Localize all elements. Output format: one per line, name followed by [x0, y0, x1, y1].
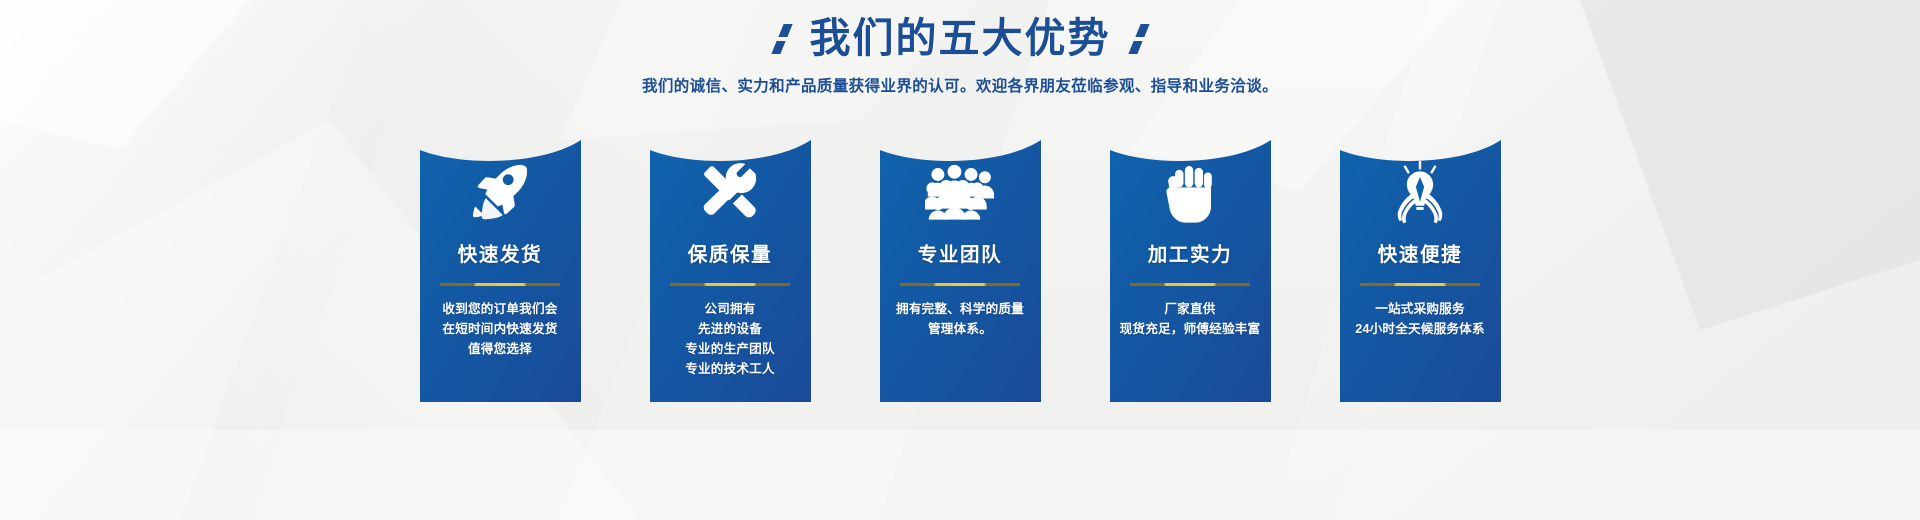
title-row: 我们的五大优势 — [0, 0, 1920, 61]
card-divider — [670, 283, 790, 286]
card-title: 保质保量 — [688, 246, 772, 266]
page-subtitle: 我们的诚信、实力和产品质量获得业界的认可。欢迎各界朋友莅临参观、指导和业务洽谈。 — [0, 74, 1920, 96]
advantage-card-fast-convenient[interactable]: 快速便捷 一站式采购服务 24小时全天候服务体系 — [1340, 140, 1501, 402]
card-title: 专业团队 — [918, 246, 1002, 266]
card-body-line: 先进的设备 — [685, 319, 775, 339]
card-body-line: 管理体系。 — [896, 319, 1024, 339]
card-title: 加工实力 — [1148, 246, 1232, 266]
card-divider — [440, 283, 560, 286]
fist-icon — [1164, 140, 1216, 244]
right-slash-decoration-icon — [1131, 24, 1147, 54]
advantage-card-list: 快速发货 收到您的订单我们会 在短时间内快速发货 值得您选择 — [0, 140, 1920, 402]
card-body: 厂家直供 现货充足，师傅经验丰富 — [1120, 299, 1261, 339]
advantage-card-quality-assurance[interactable]: 保质保量 公司拥有 先进的设备 专业的生产团队 专业的技术工人 — [650, 140, 811, 402]
card-divider — [900, 283, 1020, 286]
card-body-line: 拥有完整、科学的质量 — [896, 299, 1024, 319]
advantage-card-professional-team[interactable]: 专业团队 拥有完整、科学的质量 管理体系。 — [880, 140, 1041, 402]
card-body-line: 厂家直供 — [1120, 299, 1261, 319]
card-body: 一站式采购服务 24小时全天候服务体系 — [1355, 299, 1485, 339]
card-divider — [1130, 283, 1250, 286]
card-body: 公司拥有 先进的设备 专业的生产团队 专业的技术工人 — [685, 299, 775, 379]
card-body: 收到您的订单我们会 在短时间内快速发货 值得您选择 — [442, 299, 557, 359]
banner-header: 我们的五大优势 我们的诚信、实力和产品质量获得业界的认可。欢迎各界朋友莅临参观、… — [0, 0, 1920, 96]
page-title: 我们的五大优势 — [810, 16, 1111, 61]
left-slash-decoration-icon — [774, 24, 790, 54]
card-title: 快速便捷 — [1378, 246, 1462, 266]
card-body: 拥有完整、科学的质量 管理体系。 — [896, 299, 1024, 339]
lightbulb-in-hands-icon — [1389, 140, 1451, 244]
card-body-line: 收到您的订单我们会 — [442, 299, 557, 319]
card-body-line: 在短时间内快速发货 — [442, 319, 557, 339]
card-body-line: 24小时全天候服务体系 — [1355, 319, 1485, 339]
card-body-line: 专业的生产团队 — [685, 339, 775, 359]
advantage-card-processing-strength[interactable]: 加工实力 厂家直供 现货充足，师傅经验丰富 — [1110, 140, 1271, 402]
wrench-screwdriver-icon — [699, 140, 761, 244]
people-group-icon — [925, 140, 995, 244]
card-body-line: 现货充足，师傅经验丰富 — [1120, 319, 1261, 339]
card-title: 快速发货 — [458, 246, 542, 266]
advantage-card-fast-shipping[interactable]: 快速发货 收到您的订单我们会 在短时间内快速发货 值得您选择 — [420, 140, 581, 402]
rocket-icon — [469, 140, 531, 244]
card-body-line: 一站式采购服务 — [1355, 299, 1485, 319]
card-body-line: 值得您选择 — [442, 339, 557, 359]
card-body-line: 公司拥有 — [685, 299, 775, 319]
card-divider — [1360, 283, 1480, 286]
card-body-line: 专业的技术工人 — [685, 359, 775, 379]
